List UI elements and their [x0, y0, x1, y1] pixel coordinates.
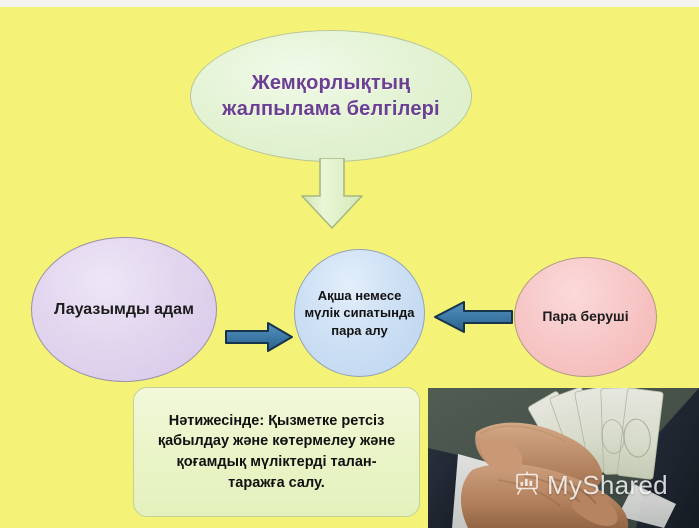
arrow-right-icon	[224, 321, 294, 353]
node-general-signs-ellipse: Жемқорлықтың жалпылама белгілері	[190, 30, 472, 162]
node-general-signs-label: Жемқорлықтың жалпылама белгілері	[191, 70, 471, 123]
slide-canvas: Жемқорлықтың жалпылама белгілері Лауазым…	[0, 0, 699, 528]
node-bribe-giver-ellipse: Пара беруші	[514, 257, 657, 377]
node-bribe-taking-circle: Ақша немесе мүлік сипатында пара алу	[294, 249, 425, 377]
node-result-box: Нәтижесінде: Қызметке ретсіз қабылдау жә…	[133, 387, 420, 517]
node-bribe-giver-label: Пара беруші	[542, 307, 628, 327]
top-edge-strip	[0, 0, 699, 7]
node-bribe-taking-label: Ақша немесе мүлік сипатында пара алу	[295, 287, 424, 339]
down-arrow-icon	[298, 158, 366, 230]
arrow-left-icon	[432, 300, 514, 334]
node-official-person-circle: Лауазымды адам	[31, 237, 217, 382]
node-result-label: Нәтижесінде: Қызметке ретсіз қабылдау жә…	[134, 411, 419, 493]
node-official-person-label: Лауазымды адам	[54, 299, 194, 321]
handshake-with-money-photo	[428, 388, 699, 528]
